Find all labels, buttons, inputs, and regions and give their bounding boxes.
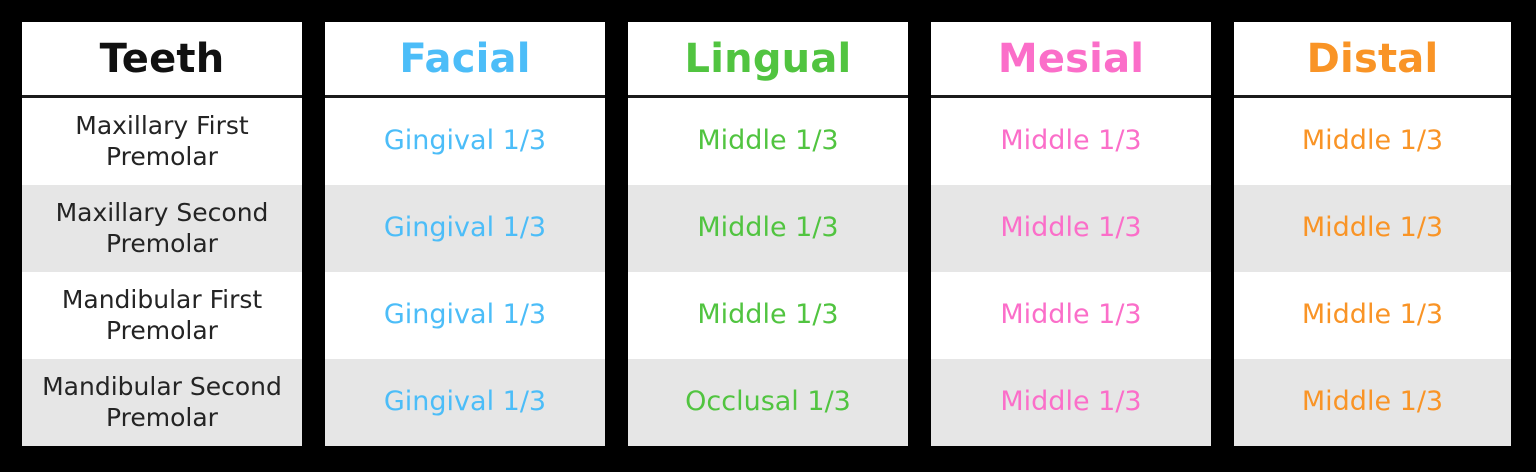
- cell-distal: Middle 1/3: [1302, 386, 1443, 418]
- cell-mesial: Middle 1/3: [1000, 386, 1141, 418]
- table-row: Middle 1/3: [628, 185, 908, 272]
- column-gap: [302, 22, 325, 450]
- table-row: Middle 1/3: [931, 98, 1211, 185]
- premolar-contact-areas-table: Teeth Maxillary First Premolar Maxillary…: [22, 22, 1512, 450]
- cell-teeth: Mandibular First Premolar: [30, 285, 294, 346]
- cell-lingual: Middle 1/3: [697, 212, 838, 244]
- column-gap: [605, 22, 628, 450]
- cell-teeth: Mandibular Second Premolar: [30, 372, 294, 433]
- table-row: Mandibular Second Premolar: [22, 359, 302, 446]
- table-row: Middle 1/3: [931, 185, 1211, 272]
- column-header-label-teeth: Teeth: [100, 39, 225, 79]
- cell-distal: Middle 1/3: [1302, 125, 1443, 157]
- table-row: Middle 1/3: [931, 359, 1211, 446]
- column-header-teeth: Teeth: [22, 22, 302, 98]
- column-gap: [1211, 22, 1234, 450]
- table-row: Gingival 1/3: [325, 272, 605, 359]
- table-row: Gingival 1/3: [325, 359, 605, 446]
- table-row: Maxillary First Premolar: [22, 98, 302, 185]
- column-header-label-facial: Facial: [399, 39, 530, 79]
- column-distal: Distal Middle 1/3 Middle 1/3 Middle 1/3 …: [1234, 22, 1511, 450]
- table-row: Middle 1/3: [628, 272, 908, 359]
- column-mesial: Mesial Middle 1/3 Middle 1/3 Middle 1/3 …: [931, 22, 1211, 450]
- table-row: Middle 1/3: [1234, 185, 1511, 272]
- column-header-mesial: Mesial: [931, 22, 1211, 98]
- cell-distal: Middle 1/3: [1302, 299, 1443, 331]
- table-row: Maxillary Second Premolar: [22, 185, 302, 272]
- table-row: Middle 1/3: [1234, 98, 1511, 185]
- column-gap: [908, 22, 931, 450]
- cell-lingual: Occlusal 1/3: [685, 386, 851, 418]
- column-header-lingual: Lingual: [628, 22, 908, 98]
- cell-distal: Middle 1/3: [1302, 212, 1443, 244]
- column-header-label-lingual: Lingual: [685, 39, 852, 79]
- table-row: Gingival 1/3: [325, 185, 605, 272]
- table-row: Middle 1/3: [1234, 359, 1511, 446]
- cell-facial: Gingival 1/3: [384, 125, 546, 157]
- column-header-label-distal: Distal: [1307, 39, 1439, 79]
- column-header-label-mesial: Mesial: [998, 39, 1144, 79]
- cell-mesial: Middle 1/3: [1000, 212, 1141, 244]
- column-teeth: Teeth Maxillary First Premolar Maxillary…: [22, 22, 302, 450]
- cell-facial: Gingival 1/3: [384, 212, 546, 244]
- cell-lingual: Middle 1/3: [697, 125, 838, 157]
- table-row: Middle 1/3: [931, 272, 1211, 359]
- column-header-facial: Facial: [325, 22, 605, 98]
- column-lingual: Lingual Middle 1/3 Middle 1/3 Middle 1/3…: [628, 22, 908, 450]
- cell-mesial: Middle 1/3: [1000, 125, 1141, 157]
- cell-facial: Gingival 1/3: [384, 299, 546, 331]
- table-row: Middle 1/3: [1234, 272, 1511, 359]
- table-row: Middle 1/3: [628, 98, 908, 185]
- cell-teeth: Maxillary Second Premolar: [30, 198, 294, 259]
- cell-lingual: Middle 1/3: [697, 299, 838, 331]
- column-header-distal: Distal: [1234, 22, 1511, 98]
- cell-facial: Gingival 1/3: [384, 386, 546, 418]
- cell-mesial: Middle 1/3: [1000, 299, 1141, 331]
- table-row: Mandibular First Premolar: [22, 272, 302, 359]
- table-row: Occlusal 1/3: [628, 359, 908, 446]
- column-facial: Facial Gingival 1/3 Gingival 1/3 Gingiva…: [325, 22, 605, 450]
- cell-teeth: Maxillary First Premolar: [30, 111, 294, 172]
- table-row: Gingival 1/3: [325, 98, 605, 185]
